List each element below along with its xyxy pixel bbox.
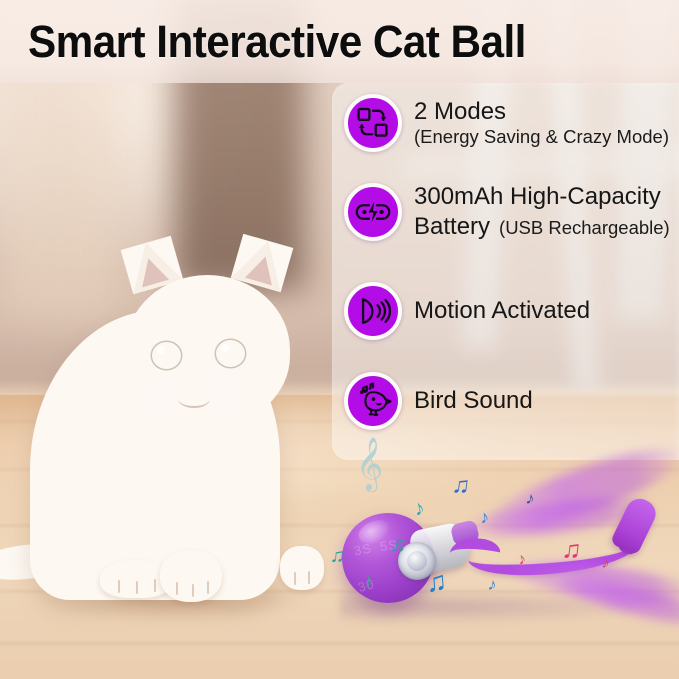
- feature-subtitle: (Energy Saving & Crazy Mode): [414, 126, 669, 147]
- two-modes-swap-icon: [344, 94, 402, 152]
- cat-eye-right: [216, 340, 245, 367]
- product-infographic: Smart Interactive Cat Ball 2 Modes (Ener…: [0, 0, 679, 679]
- feature-list-panel: 2 Modes (Energy Saving & Crazy Mode) 300…: [332, 83, 679, 460]
- cat-eye-left: [152, 342, 181, 369]
- feature-title: Bird Sound: [414, 388, 533, 415]
- battery-charge-icon: [344, 183, 402, 241]
- feature-text-battery: 300mAh High-Capacity Battery (USB Rechar…: [414, 182, 670, 242]
- music-note: ♪: [601, 555, 611, 571]
- page-title: Smart Interactive Cat Ball: [28, 16, 526, 68]
- cat-eye-highlight: [157, 346, 165, 354]
- music-notes-layer: ♪♫♪♬♪♫♫♪♪♪♫♪: [330, 460, 679, 600]
- cat-mouth: [178, 390, 210, 408]
- cat-paw: [280, 546, 324, 590]
- bird-sound-icon: [344, 372, 402, 430]
- music-note: ♫: [450, 473, 471, 499]
- feature-title: Motion Activated: [414, 298, 590, 325]
- music-note: ♪: [516, 551, 528, 568]
- music-note: ♫: [425, 567, 448, 596]
- feature-item-bird-sound[interactable]: Bird Sound: [344, 372, 533, 430]
- cat-paw: [160, 550, 222, 602]
- feature-text-bird-sound: Bird Sound: [414, 388, 533, 415]
- feature-item-2-modes[interactable]: 2 Modes (Energy Saving & Crazy Mode): [344, 94, 669, 152]
- motion-sensor-icon: [344, 282, 402, 340]
- music-note: ♫: [560, 535, 583, 563]
- feature-item-battery[interactable]: 300mAh High-Capacity Battery (USB Rechar…: [344, 182, 670, 242]
- music-note: ♪: [487, 575, 498, 593]
- music-note: ♪: [363, 571, 375, 591]
- title-banner: Smart Interactive Cat Ball: [0, 0, 679, 83]
- cat-eye-highlight: [221, 344, 229, 352]
- music-note: ♪: [412, 497, 427, 520]
- music-note: ♫: [329, 545, 346, 566]
- feature-subtitle: (USB Rechargeable): [499, 217, 670, 239]
- music-note: ♪: [525, 489, 536, 507]
- feature-title-second-line: Battery (USB Rechargeable): [414, 212, 670, 242]
- music-note: ♬: [389, 533, 413, 557]
- feature-title-continued: Battery: [414, 212, 490, 242]
- feature-text-2-modes: 2 Modes (Energy Saving & Crazy Mode): [414, 99, 669, 147]
- music-note: ♪: [479, 508, 490, 527]
- feature-item-motion-activated[interactable]: Motion Activated: [344, 282, 590, 340]
- cat-photo-subject: [0, 150, 330, 620]
- feature-title: 2 Modes: [414, 99, 669, 126]
- feature-title: 300mAh High-Capacity: [414, 182, 670, 212]
- feature-text-motion-activated: Motion Activated: [414, 298, 590, 325]
